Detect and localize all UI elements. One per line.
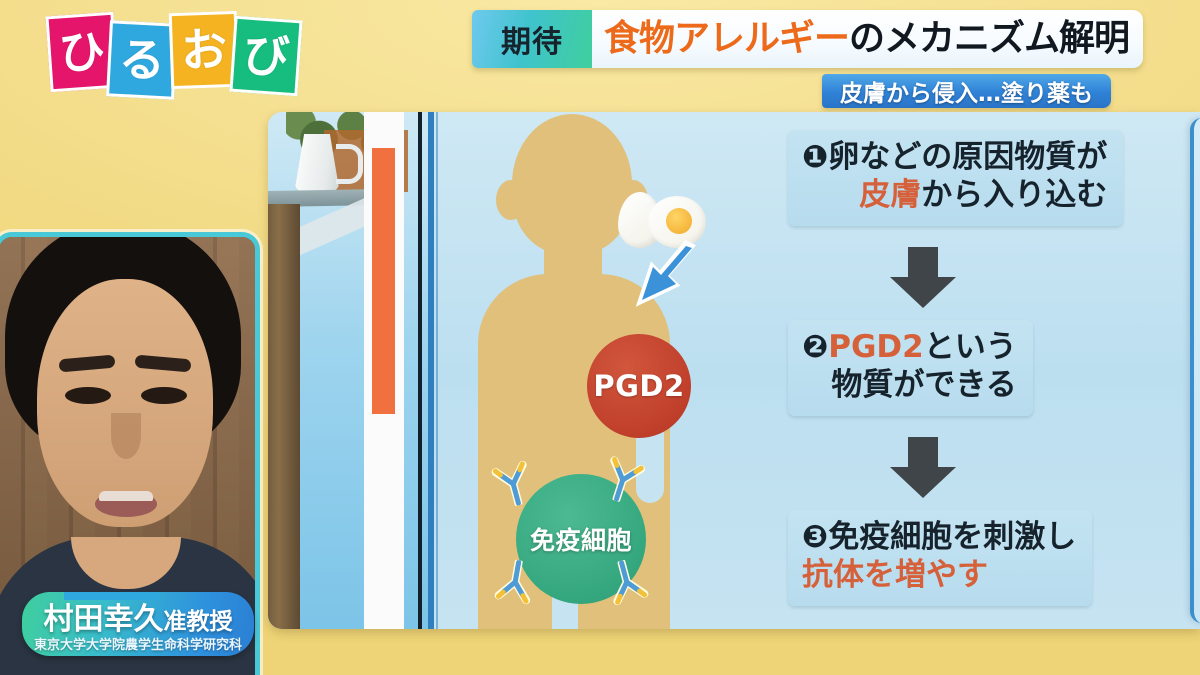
main-graphics-panel: PGD2 免疫細胞 [268, 112, 1200, 629]
logo-tile-3: お [169, 11, 240, 89]
step-1-line-1: ❶卵などの原因物質が [802, 139, 1107, 177]
studio-orange-stripe [372, 148, 395, 414]
body-ear-left [496, 180, 526, 220]
body-head [512, 114, 632, 254]
program-logo: ひ る お び [48, 6, 308, 98]
guest-affiliation: 東京大学大学院農学生命科学研究科 [22, 634, 254, 653]
broadcast-screen: ひ る お び 期待 食物アレルギー のメカニズム解明 皮膚から侵入…塗り薬も [0, 0, 1200, 675]
step-3-line-2: 抗体を増やす [802, 557, 1076, 595]
egg-yolk [666, 208, 692, 234]
headline-main: 食物アレルギー のメカニズム解明 [592, 10, 1143, 68]
step-2-accent: PGD2 [828, 329, 923, 365]
feed-teeth [99, 491, 153, 501]
studio-wooden-post [268, 204, 300, 629]
panel-left-edge-thin [436, 112, 438, 629]
guest-name-plate: 村田幸久准教授 東京大学大学院農学生命科学研究科 [22, 592, 254, 656]
antibody-icon [488, 556, 541, 609]
studio-pitcher-handle-icon [336, 144, 363, 184]
feed-person-face [37, 279, 213, 527]
step-3-accent: 抗体を増やす [802, 557, 988, 593]
next-slide-panel: PGD2を アレル 東京大学大学院 [1190, 118, 1200, 623]
step-1-number: ❶ [802, 139, 828, 175]
headline-badge: 期待 [472, 10, 592, 68]
studio-dark-edge [418, 112, 422, 629]
step-1-text-2: から入り込む [921, 177, 1107, 213]
step-box-1: ❶卵などの原因物質が 皮膚から入り込む [788, 130, 1123, 226]
step-3-number: ❸ [802, 519, 828, 555]
step-1-text-1: 卵などの原因物質が [828, 139, 1107, 175]
step-2-line-1: ❷PGD2という [802, 329, 1017, 367]
step-box-2: ❷PGD2という 物質ができる [788, 320, 1033, 416]
feed-eye-right [141, 387, 187, 404]
logo-tile-4: び [229, 16, 302, 97]
step-1-accent: 皮膚 [859, 177, 921, 213]
step-box-3: ❸免疫細胞を刺激し 抗体を増やす [788, 510, 1092, 606]
guest-name: 村田幸久准教授 [22, 594, 254, 638]
step-2-number: ❷ [802, 329, 828, 365]
panel-left-edge [428, 112, 434, 629]
step-1-line-2: 皮膚から入り込む [802, 177, 1107, 215]
mechanism-diagram: PGD2 免疫細胞 [428, 112, 1200, 629]
step-3-text-1: 免疫細胞を刺激し [828, 519, 1076, 555]
headline-banner: 期待 食物アレルギー のメカニズム解明 [472, 10, 1143, 68]
down-arrow-icon [886, 437, 960, 499]
headline-accent-text: 食物アレルギー [604, 21, 849, 57]
studio-backdrop-photo [268, 112, 428, 629]
headline-plain-text: のメカニズム解明 [849, 21, 1129, 57]
step-2-line-2: 物質ができる [802, 367, 1017, 405]
blue-arrow-icon [606, 240, 702, 350]
logo-tile-2: る [106, 20, 178, 99]
guest-name-text: 村田幸久 [44, 602, 164, 637]
feed-eye-left [65, 387, 111, 404]
step-2-text-1: という [924, 329, 1017, 365]
guest-title-text: 准教授 [164, 609, 233, 635]
down-arrow-icon [886, 247, 960, 309]
feed-nose [111, 413, 141, 459]
headline-subline: 皮膚から侵入…塗り薬も [822, 74, 1111, 108]
step-3-line-1: ❸免疫細胞を刺激し [802, 519, 1076, 557]
